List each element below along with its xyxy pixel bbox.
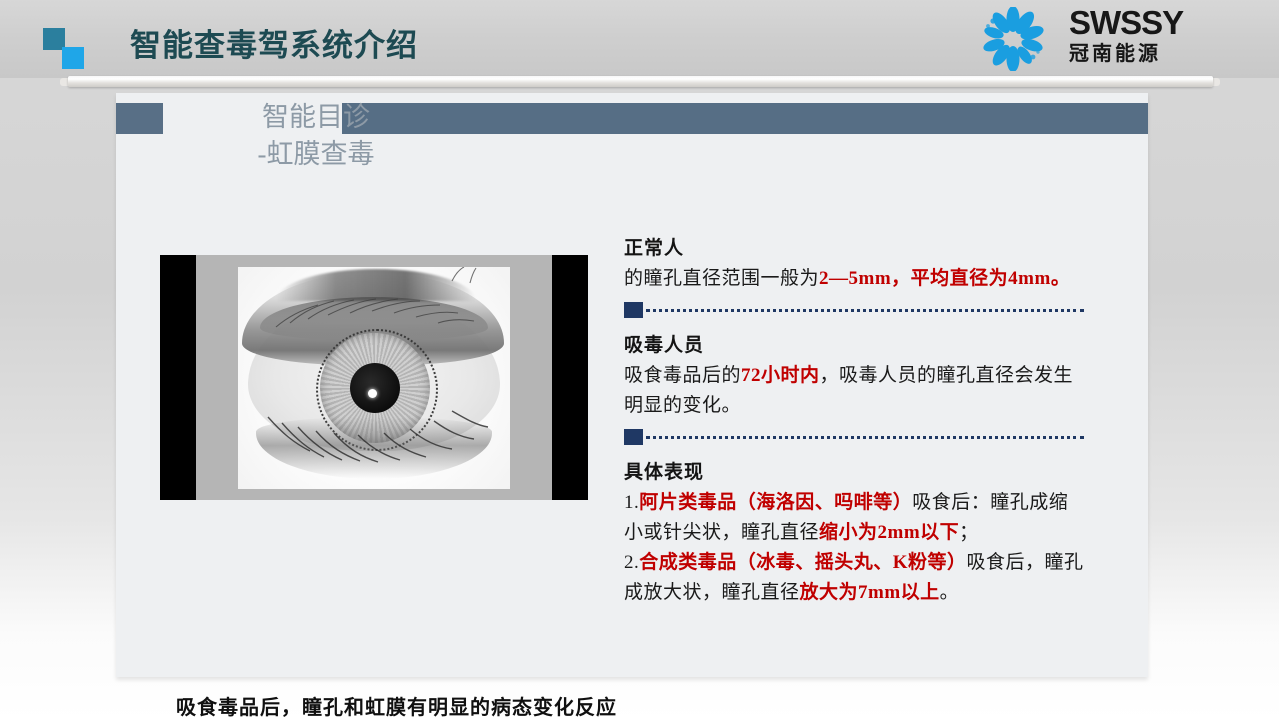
brand-text: SWSSY 冠南能源 bbox=[1069, 6, 1259, 66]
brand-name: SWSSY bbox=[1069, 6, 1259, 40]
list-item-measure: 放大为7mm以上 bbox=[800, 582, 940, 603]
figure-caption: 吸食毒品后，瞳孔和虹膜有明显的病态变化反应 bbox=[176, 691, 696, 720]
water-droplet-flower-icon bbox=[971, 7, 1055, 71]
square-bright-blue bbox=[62, 47, 84, 69]
brand-subtitle: 冠南能源 bbox=[1069, 42, 1259, 66]
list-item-end: ； bbox=[959, 522, 979, 543]
list-item: 1.阿片类毒品（海洛因、吗啡等）吸食后：瞳孔成缩小或针尖状，瞳孔直径缩小为2mm… bbox=[624, 488, 1084, 548]
list-item: 2.合成类毒品（冰毒、摇头丸、K粉等）吸食后，瞳孔成放大状，瞳孔直径放大为7mm… bbox=[624, 548, 1084, 608]
list-item-drug: 合成类毒品（冰毒、摇头丸、K粉等） bbox=[639, 552, 966, 573]
block-heading: 正常人 bbox=[624, 233, 1084, 260]
title-chip bbox=[116, 103, 163, 134]
list-item-measure: 缩小为2mm以下 bbox=[819, 522, 959, 543]
block-normal-person: 正常人 的瞳孔直径范围一般为2—5mm，平均直径为4mm。 bbox=[624, 233, 1084, 294]
two-squares-icon bbox=[40, 28, 92, 70]
detail-heading: 具体表现 bbox=[624, 457, 1084, 484]
block-drug-user: 吸毒人员 吸食毒品后的72小时内，吸毒人员的瞳孔直径会发生明显的变化。 bbox=[624, 330, 1084, 421]
list-item-drug: 阿片类毒品（海洛因、吗啡等） bbox=[639, 492, 912, 513]
slide-panel: 智能目诊 -虹膜查毒 bbox=[116, 93, 1148, 677]
divider-dotted-line bbox=[646, 436, 1084, 439]
eyelashes-icon bbox=[238, 267, 510, 489]
divider-square-icon bbox=[624, 429, 643, 445]
list-item-number: 1. bbox=[624, 492, 639, 513]
page-title: 智能查毒驾系统介绍 bbox=[130, 20, 418, 65]
list-item-number: 2. bbox=[624, 552, 639, 573]
slide-title-line2: -虹膜查毒 bbox=[176, 136, 456, 173]
section-divider bbox=[624, 300, 1084, 322]
title-bar bbox=[342, 103, 1148, 134]
divider-dotted-line bbox=[646, 309, 1084, 312]
text-content: 正常人 的瞳孔直径范围一般为2—5mm，平均直径为4mm。 吸毒人员 吸食毒品后… bbox=[624, 233, 1084, 608]
block-body-prefix: 吸食毒品后的 bbox=[624, 365, 741, 386]
block-specific-signs: 具体表现 1.阿片类毒品（海洛因、吗啡等）吸食后：瞳孔成缩小或针尖状，瞳孔直径缩… bbox=[624, 457, 1084, 608]
block-heading: 吸毒人员 bbox=[624, 330, 1084, 357]
block-body: 的瞳孔直径范围一般为2—5mm，平均直径为4mm。 bbox=[624, 264, 1084, 294]
slide-title: 智能目诊 -虹膜查毒 bbox=[176, 99, 456, 173]
block-body: 吸食毒品后的72小时内，吸毒人员的瞳孔直径会发生明显的变化。 bbox=[624, 361, 1084, 421]
eye-figure: 吸食毒品后，瞳孔和虹膜有明显的病态变化反应 bbox=[160, 255, 588, 500]
brand-logo: SWSSY 冠南能源 bbox=[971, 4, 1261, 74]
grayscale-eye-iris-photo bbox=[238, 267, 510, 489]
block-body-highlight: 72小时内 bbox=[741, 365, 820, 386]
header-divider-bar bbox=[68, 76, 1213, 87]
page-header: 智能查毒驾系统介绍 bbox=[0, 0, 1279, 78]
section-divider bbox=[624, 427, 1084, 449]
list-item-end: 。 bbox=[940, 582, 960, 603]
slide-title-line1: 智能目诊 bbox=[262, 102, 370, 132]
block-body-prefix: 的瞳孔直径范围一般为 bbox=[624, 268, 819, 289]
divider-square-icon bbox=[624, 302, 643, 318]
block-body-highlight: 2—5mm，平均直径为4mm。 bbox=[819, 268, 1070, 289]
